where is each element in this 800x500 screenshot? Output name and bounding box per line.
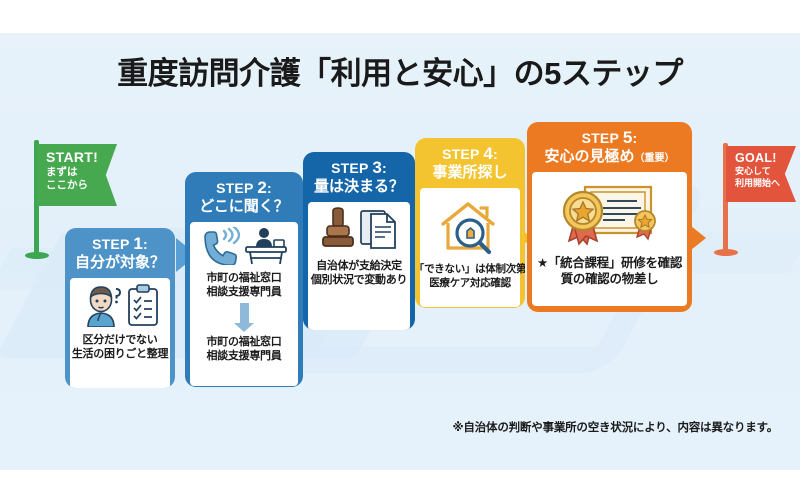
caption-line: 個別状況で変動あり [311,273,407,287]
step-card-1-label: STEP 1: [68,234,172,254]
step-colon: : [382,160,387,176]
step-card-3-header: STEP 3: 量は決まる？ [303,152,415,202]
step-card-4-label: STEP 4: [418,144,522,164]
step-card-1-subtitle: 自分が対象？ [68,254,172,271]
caption-line: 市町の福祉窓口 [207,335,282,349]
step-card-1-body: 区分だけでない 生活の困りごと整理 [70,278,170,388]
house-magnifier-icon [437,197,503,257]
ringing-phone-icon [200,227,240,265]
start-flag-line2: ここから [46,179,109,192]
step-card-5[interactable]: STEP 5: 安心の見極め（重要） ★「統合課程」研修を確認 質の確認の物差し [527,122,692,312]
reception-desk-icon [244,227,288,265]
caption-line: 医療ケア対応確認 [415,277,525,290]
step-card-5-label: STEP 5: [530,128,689,148]
step-colon: : [267,180,272,196]
subtitle-text: 安心の見極め [544,148,634,165]
caption-line: 「できない」は体制次第 [415,263,525,276]
step-number: 5 [623,128,633,147]
step-word: STEP [582,130,619,146]
footnote: ※自治体の判断や事業所の空き状況により、内容は異なります。 [452,419,778,435]
step-card-3-label: STEP 3: [306,158,412,178]
step-card-1-icons [80,283,160,327]
step-number: 1 [133,234,143,253]
caption-line: 相談支援専門員 [207,349,282,363]
step-word: STEP [442,146,479,162]
step-card-4-subtitle: 事業所探し [418,164,522,181]
rubber-stamp-icon [321,207,355,253]
caption-line: ★「統合課程」研修を確認 [537,255,682,271]
step-card-3-body: 自治体が支給決定 個別状況で変動あり [308,202,410,330]
step-card-5-subtitle: 安心の見極め（重要） [530,148,689,165]
certificate-medal-icon [555,179,665,251]
step-card-4[interactable]: STEP 4: 事業所探し 「できない」は体制次第 医療ケア対応確認 [415,138,525,308]
step-card-4-caption: 「できない」は体制次第 医療ケア対応確認 [415,263,525,290]
step-word: STEP [216,180,253,196]
step-number: 4 [483,144,493,163]
caption-line: 生活の困りごと整理 [72,347,168,361]
step-word: STEP [331,160,368,176]
step-card-2-label: STEP 2: [188,178,300,198]
step-card-2-caption: 市町の福祉窓口 相談支援専門員 [207,271,282,299]
step-card-2-header: STEP 2: どこに聞く？ [185,172,303,222]
step-colon: : [143,236,148,252]
caption-line: 区分だけでない [72,333,168,347]
step-card-2-subtitle: どこに聞く？ [188,198,300,215]
goal-flag: GOAL! 安心して 利用開始へ [718,143,800,258]
flag-base-icon [25,252,49,259]
caption-line: 自治体が支給決定 [311,259,407,273]
step-number: 2 [257,178,267,197]
step-card-3[interactable]: STEP 3: 量は決まる？ 自治体が支給決定 [303,152,415,330]
step-colon: : [633,130,638,146]
subtitle-note: （重要） [635,153,675,164]
flag-base-icon [714,249,738,256]
step-card-5-caption: ★「統合課程」研修を確認 質の確認の物差し [537,255,682,288]
goal-flag-line1: 安心して [735,166,788,177]
step-card-2[interactable]: STEP 2: どこに聞く？ [185,172,303,387]
step-colon: : [493,146,498,162]
step-card-3-icons [321,207,397,253]
caption-line: 相談支援専門員 [207,285,282,299]
infographic-root: 重度訪問介護「利用と安心」の5ステップ START! まずは ここから STEP… [0,0,800,500]
goal-flag-banner: GOAL! 安心して 利用開始へ [726,146,796,202]
documents-icon [359,207,397,253]
start-flag-line1: まずは [46,166,109,179]
step-card-1-caption: 区分だけでない 生活の困りごと整理 [72,333,168,361]
step-card-1[interactable]: STEP 1: 自分が対象？ [65,228,175,388]
caption-line: 市町の福祉窓口 [207,271,282,285]
step-card-3-caption: 自治体が支給決定 個別状況で変動あり [311,259,407,287]
step-card-2-icons [200,227,288,265]
step-card-2-second-caption: 市町の福祉窓口 相談支援専門員 [207,335,282,363]
step-word: STEP [92,236,129,252]
page-title: 重度訪問介護「利用と安心」の5ステップ [0,48,800,93]
step-number: 3 [372,158,382,177]
person-thinking-icon [80,283,122,327]
start-flag-title: START! [46,150,109,165]
caption-line: 質の確認の物差し [537,271,682,287]
step-card-3-subtitle: 量は決まる？ [306,178,412,195]
checklist-clipboard-icon [126,283,160,327]
down-arrow-icon [240,303,249,323]
step-card-4-header: STEP 4: 事業所探し [415,138,525,188]
step-card-5-body: ★「統合課程」研修を確認 質の確認の物差し [532,172,687,306]
step-card-1-header: STEP 1: 自分が対象？ [65,228,175,278]
step-card-2-body: 市町の福祉窓口 相談支援専門員 市町の福祉窓口 相談支援専門員 [190,222,298,386]
start-flag-banner: START! まずは ここから [37,144,117,206]
goal-flag-title: GOAL! [735,152,788,165]
step-card-5-header: STEP 5: 安心の見極め（重要） [527,122,692,172]
step-card-4-body: 「できない」は体制次第 医療ケア対応確認 [420,188,520,307]
goal-flag-line2: 利用開始へ [735,178,788,189]
